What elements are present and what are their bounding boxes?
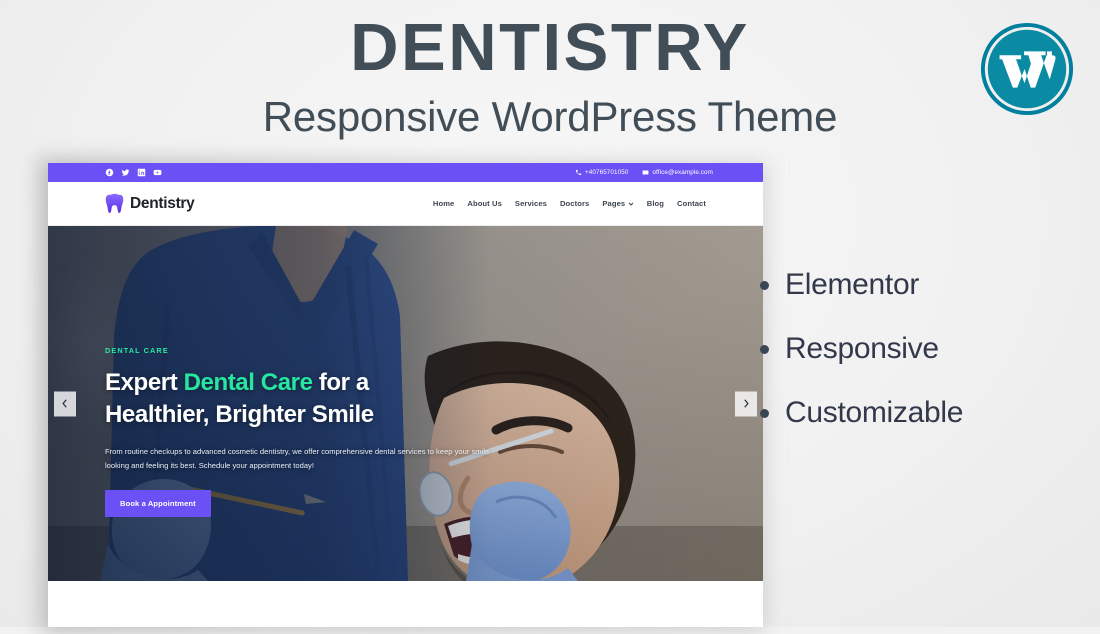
hero-title-line2: Healthier, Brighter Smile xyxy=(105,401,374,428)
nav-label: Home xyxy=(433,199,455,208)
hero-title: Expert Dental Care for a Healthier, Brig… xyxy=(105,367,535,431)
facebook-icon[interactable] xyxy=(105,168,114,177)
nav-label: Contact xyxy=(677,199,706,208)
list-item: Elementor xyxy=(760,270,1060,300)
main-navigation: Home About Us Services Doctors Pages Blo… xyxy=(433,199,706,208)
email-address: office@example.com xyxy=(652,169,713,176)
poster-heading-block: DENTISTRY Responsive WordPress Theme xyxy=(0,14,1100,141)
wordpress-logo xyxy=(978,20,1076,118)
feature-label-customizable: Customizable xyxy=(785,398,963,428)
feature-label-responsive: Responsive xyxy=(785,334,939,364)
nav-item-services[interactable]: Services xyxy=(515,199,547,208)
youtube-icon[interactable] xyxy=(153,168,162,177)
phone-contact[interactable]: +40765701050 xyxy=(575,169,628,176)
site-brand-name: Dentistry xyxy=(130,195,195,213)
site-logo[interactable]: Dentistry xyxy=(105,193,195,214)
tooth-icon xyxy=(105,193,124,214)
nav-label: About Us xyxy=(467,199,502,208)
nav-label: Pages xyxy=(602,199,625,208)
nav-item-doctors[interactable]: Doctors xyxy=(560,199,589,208)
hero-slider: DENTAL CARE Expert Dental Care for a Hea… xyxy=(48,226,763,581)
website-mockup: +40765701050 office@example.com Dentistr… xyxy=(48,163,763,627)
slider-prev-button[interactable] xyxy=(54,391,76,416)
topbar-contact: +40765701050 office@example.com xyxy=(575,169,713,176)
chevron-down-icon xyxy=(628,201,634,207)
nav-label: Blog xyxy=(647,199,664,208)
nav-label: Doctors xyxy=(560,199,589,208)
nav-item-contact[interactable]: Contact xyxy=(677,199,706,208)
twitter-icon[interactable] xyxy=(121,168,130,177)
nav-label: Services xyxy=(515,199,547,208)
nav-item-about-us[interactable]: About Us xyxy=(467,199,502,208)
bullet-icon xyxy=(760,345,769,354)
book-appointment-button[interactable]: Book a Appointment xyxy=(105,490,211,517)
bullet-icon xyxy=(760,281,769,290)
below-hero-section xyxy=(48,581,763,627)
list-item: Responsive xyxy=(760,334,1060,364)
nav-item-pages[interactable]: Pages xyxy=(602,199,633,208)
hero-content: DENTAL CARE Expert Dental Care for a Hea… xyxy=(105,346,535,517)
hero-title-accent: Dental Care xyxy=(184,369,313,396)
nav-item-blog[interactable]: Blog xyxy=(647,199,664,208)
envelope-icon xyxy=(642,169,649,176)
chevron-left-icon xyxy=(61,399,69,409)
page-subtitle: Responsive WordPress Theme xyxy=(0,94,1100,140)
slider-next-button[interactable] xyxy=(735,391,757,416)
chevron-right-icon xyxy=(742,399,750,409)
nav-item-home[interactable]: Home xyxy=(433,199,455,208)
email-contact[interactable]: office@example.com xyxy=(642,169,713,176)
social-links[interactable] xyxy=(105,168,162,177)
feature-label-elementor: Elementor xyxy=(785,270,919,300)
linkedin-icon[interactable] xyxy=(137,168,146,177)
hero-title-part2: for a xyxy=(313,369,369,396)
bullet-icon xyxy=(760,409,769,418)
hero-title-part1: Expert xyxy=(105,369,184,396)
site-header: Dentistry Home About Us Services Doctors… xyxy=(48,182,763,226)
hero-description: From routine checkups to advanced cosmet… xyxy=(105,445,515,473)
site-topbar: +40765701050 office@example.com xyxy=(48,163,763,182)
hero-eyebrow: DENTAL CARE xyxy=(105,346,535,355)
list-item: Customizable xyxy=(760,398,1060,428)
feature-list: Elementor Responsive Customizable xyxy=(760,270,1060,462)
phone-icon xyxy=(575,169,582,176)
phone-number: +40765701050 xyxy=(585,169,628,176)
page-title: DENTISTRY xyxy=(0,14,1100,82)
